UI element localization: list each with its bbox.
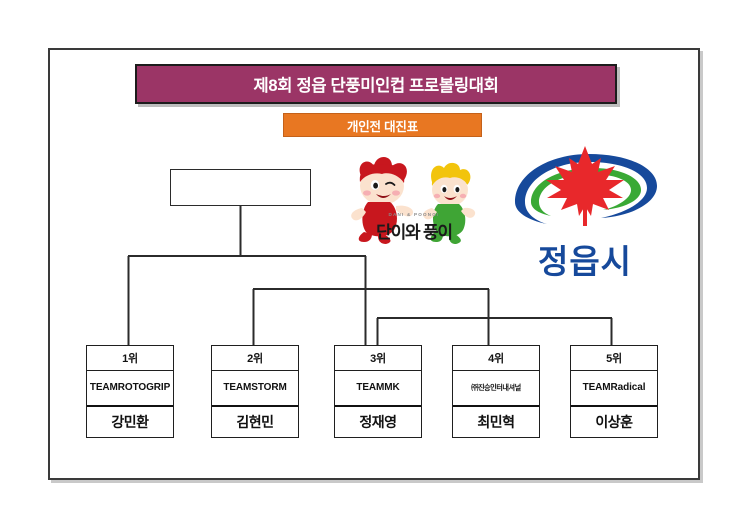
player-box-4[interactable]: 4위 ㈜진승인터내셔널 최민혁 [452, 345, 540, 438]
player-team-line-1: ㈜진승인터내셔널 [471, 384, 520, 392]
player-team-line-1: TEAM [583, 382, 611, 394]
mascot-caption: 단이와 풍이 [340, 218, 488, 243]
player-name: 김현민 [212, 407, 298, 437]
player-team-line-1: TEAM [356, 382, 384, 394]
player-box-2[interactable]: 2위 TEAM STORM 김현민 [211, 345, 299, 438]
player-team: ㈜진승인터내셔널 [453, 371, 539, 407]
player-rank: 2위 [212, 346, 298, 371]
jeongeup-city-logo-icon [505, 140, 665, 240]
player-team-line-2: ROTOGRIP [118, 382, 170, 394]
mascot-caption-english: DANI & POONGI [340, 212, 488, 217]
player-box-3[interactable]: 3위 TEAM MK 정재영 [334, 345, 422, 438]
player-team-line-2: STORM [251, 382, 286, 394]
player-team: TEAM STORM [212, 371, 298, 407]
player-name: 강민환 [87, 407, 173, 437]
player-team: TEAM ROTOGRIP [87, 371, 173, 407]
player-box-1[interactable]: 1위 TEAM ROTOGRIP 강민환 [86, 345, 174, 438]
player-box-5[interactable]: 5위 TEAM Radical 이상훈 [570, 345, 658, 438]
player-name: 정재영 [335, 407, 421, 437]
player-rank: 3위 [335, 346, 421, 371]
player-rank: 4위 [453, 346, 539, 371]
player-name: 이상훈 [571, 407, 657, 437]
player-team-line-2: MK [384, 382, 399, 394]
player-name: 최민혁 [453, 407, 539, 437]
player-team-line-1: TEAM [223, 382, 251, 394]
player-rank: 1위 [87, 346, 173, 371]
player-team-line-1: TEAM [90, 382, 118, 394]
champion-box[interactable] [170, 169, 311, 206]
player-rank: 5위 [571, 346, 657, 371]
city-logo-label: 정읍시 [505, 235, 665, 283]
player-team: TEAM Radical [571, 371, 657, 407]
player-team-line-2: Radical [611, 382, 646, 394]
player-team: TEAM MK [335, 371, 421, 407]
